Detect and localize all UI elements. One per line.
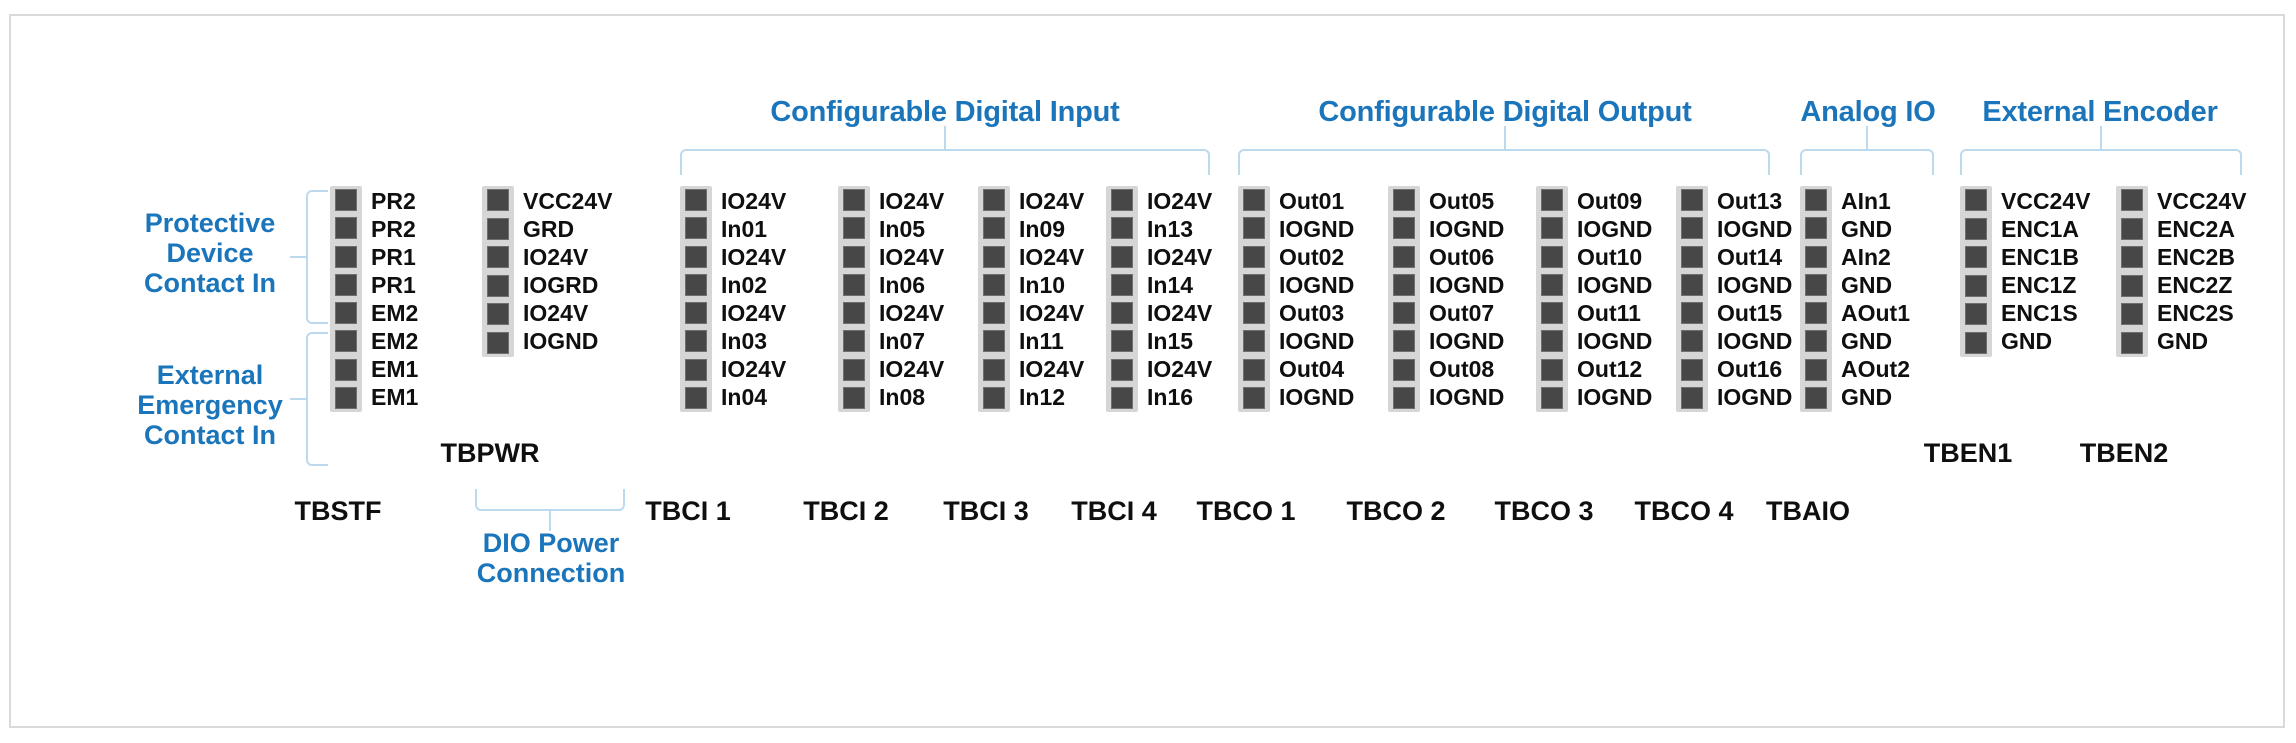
terminal-pin[interactable] bbox=[1965, 275, 1987, 297]
pin-label: In11 bbox=[1019, 329, 1084, 353]
terminal-pin[interactable] bbox=[843, 217, 865, 239]
pin-label: Out04 bbox=[1279, 357, 1354, 381]
pin-label: In15 bbox=[1147, 329, 1212, 353]
terminal-pin[interactable] bbox=[335, 302, 357, 324]
terminal-block-tbci3[interactable] bbox=[978, 186, 1010, 412]
terminal-pin[interactable] bbox=[1243, 302, 1265, 324]
pin-label: Out07 bbox=[1429, 301, 1504, 325]
terminal-pin[interactable] bbox=[1805, 246, 1827, 268]
pin-label-column-tbstf: PR2PR2PR1PR1EM2EM2EM1EM1 bbox=[371, 189, 418, 409]
pin-label: In16 bbox=[1147, 385, 1212, 409]
pin-label: VCC24V bbox=[523, 189, 612, 213]
terminal-pin[interactable] bbox=[487, 218, 509, 240]
terminal-pin[interactable] bbox=[1541, 330, 1563, 352]
pin-label: IO24V bbox=[721, 245, 786, 269]
terminal-pin[interactable] bbox=[983, 217, 1005, 239]
pin-label: IO24V bbox=[1019, 301, 1084, 325]
block-name-tbstf: TBSTF bbox=[258, 496, 418, 527]
terminal-pin[interactable] bbox=[685, 189, 707, 211]
terminal-pin[interactable] bbox=[1965, 332, 1987, 354]
pin-label: GRD bbox=[523, 217, 612, 241]
terminal-pin[interactable] bbox=[1541, 274, 1563, 296]
pin-label: AIn2 bbox=[1841, 245, 1910, 269]
block-name-tbco2: TBCO 2 bbox=[1316, 496, 1476, 527]
pin-label: IOGND bbox=[1279, 217, 1354, 241]
pin-label: Out16 bbox=[1717, 357, 1792, 381]
terminal-pin[interactable] bbox=[335, 359, 357, 381]
pin-label: IO24V bbox=[1147, 301, 1212, 325]
terminal-pin[interactable] bbox=[1681, 387, 1703, 409]
bracket-digital-output bbox=[1238, 149, 1770, 175]
pin-label: IOGND bbox=[1577, 385, 1652, 409]
pin-label: IO24V bbox=[721, 301, 786, 325]
pin-label: In02 bbox=[721, 273, 786, 297]
pin-label: In09 bbox=[1019, 217, 1084, 241]
block-name-tbpwr: TBPWR bbox=[410, 438, 570, 469]
pin-label-column-tbco3: Out09IOGNDOut10IOGNDOut11IOGNDOut12IOGND bbox=[1577, 189, 1652, 409]
pin-label: Out14 bbox=[1717, 245, 1792, 269]
pin-label-column-tbci1: IO24VIn01IO24VIn02IO24VIn03IO24VIn04 bbox=[721, 189, 786, 409]
terminal-pin[interactable] bbox=[487, 189, 509, 211]
pin-label: In05 bbox=[879, 217, 944, 241]
pin-label: IO24V bbox=[1019, 357, 1084, 381]
terminal-pin[interactable] bbox=[1243, 217, 1265, 239]
terminal-pin[interactable] bbox=[1681, 217, 1703, 239]
pin-label: ENC2Z bbox=[2157, 274, 2246, 298]
pin-label: PR2 bbox=[371, 217, 418, 241]
pin-label: In12 bbox=[1019, 385, 1084, 409]
pin-label: IO24V bbox=[879, 245, 944, 269]
pin-label-column-tbaio: AIn1GNDAIn2GNDAOut1GNDAOut2GND bbox=[1841, 189, 1910, 409]
terminal-pin[interactable] bbox=[843, 387, 865, 409]
pin-label: IOGND bbox=[1577, 217, 1652, 241]
pin-label-column-tbco2: Out05IOGNDOut06IOGNDOut07IOGNDOut08IOGND bbox=[1429, 189, 1504, 409]
pin-label: Out10 bbox=[1577, 245, 1652, 269]
terminal-pin[interactable] bbox=[487, 332, 509, 354]
terminal-pin[interactable] bbox=[335, 246, 357, 268]
pin-label: VCC24V bbox=[2157, 189, 2246, 213]
terminal-pin[interactable] bbox=[1541, 387, 1563, 409]
terminal-pin[interactable] bbox=[1805, 330, 1827, 352]
bracket-stem-external-emergency bbox=[290, 398, 306, 400]
pin-label: ENC1B bbox=[2001, 245, 2090, 269]
terminal-pin[interactable] bbox=[1965, 189, 1987, 211]
pin-label-column-tbco4: Out13IOGNDOut14IOGNDOut15IOGNDOut16IOGND bbox=[1717, 189, 1792, 409]
pin-label: IOGND bbox=[1577, 329, 1652, 353]
pin-label: EM2 bbox=[371, 301, 418, 325]
terminal-pin[interactable] bbox=[843, 189, 865, 211]
terminal-pin[interactable] bbox=[1965, 218, 1987, 240]
pin-label-column-tben2: VCC24VENC2AENC2BENC2ZENC2SGND bbox=[2157, 189, 2246, 354]
pin-label: In06 bbox=[879, 273, 944, 297]
pin-label: ENC2S bbox=[2157, 302, 2246, 326]
group-title-configurable-digital-input: Configurable Digital Input bbox=[760, 96, 1130, 129]
terminal-pin[interactable] bbox=[1805, 189, 1827, 211]
bracket-analog-io bbox=[1800, 149, 1934, 175]
terminal-pin[interactable] bbox=[1681, 246, 1703, 268]
terminal-pin[interactable] bbox=[1243, 246, 1265, 268]
terminal-pin[interactable] bbox=[685, 217, 707, 239]
terminal-pin[interactable] bbox=[843, 302, 865, 324]
pin-label: PR2 bbox=[371, 189, 418, 213]
terminal-pin[interactable] bbox=[1965, 246, 1987, 268]
pin-label: IOGND bbox=[1717, 217, 1792, 241]
block-name-tben2: TBEN2 bbox=[2044, 438, 2204, 469]
caption-protective-device-contact-in: Protective Device Contact In bbox=[100, 208, 320, 299]
pin-label: In07 bbox=[879, 329, 944, 353]
block-name-tbci2: TBCI 2 bbox=[766, 496, 926, 527]
terminal-pin[interactable] bbox=[487, 275, 509, 297]
pin-label: In01 bbox=[721, 217, 786, 241]
bracket-dio-power bbox=[475, 489, 625, 511]
terminal-pin[interactable] bbox=[1681, 330, 1703, 352]
terminal-pin[interactable] bbox=[1541, 246, 1563, 268]
terminal-pin[interactable] bbox=[335, 189, 357, 211]
terminal-block-tbco3[interactable] bbox=[1536, 186, 1568, 412]
terminal-pin[interactable] bbox=[983, 274, 1005, 296]
pin-label: Out03 bbox=[1279, 301, 1354, 325]
block-name-tbci1: TBCI 1 bbox=[608, 496, 768, 527]
bracket-protective-device bbox=[306, 190, 328, 324]
caption-external-emergency-contact-in: External Emergency Contact In bbox=[88, 360, 332, 451]
terminal-pin[interactable] bbox=[685, 274, 707, 296]
pin-label: Out02 bbox=[1279, 245, 1354, 269]
pin-label: IOGND bbox=[1717, 329, 1792, 353]
pin-label: IOGND bbox=[1429, 273, 1504, 297]
pin-label: Out11 bbox=[1577, 301, 1652, 325]
pin-label-column-tbpwr: VCC24VGRDIO24VIOGRDIO24VIOGND bbox=[523, 189, 612, 354]
block-name-tben1: TBEN1 bbox=[1888, 438, 2048, 469]
pin-label: GND bbox=[1841, 329, 1910, 353]
pin-label: IO24V bbox=[721, 189, 786, 213]
terminal-pin[interactable] bbox=[1393, 246, 1415, 268]
pin-label: IO24V bbox=[1147, 245, 1212, 269]
terminal-pin[interactable] bbox=[685, 246, 707, 268]
terminal-pin[interactable] bbox=[1111, 359, 1133, 381]
pin-label: GND bbox=[2157, 330, 2246, 354]
pin-label: PR1 bbox=[371, 273, 418, 297]
terminal-pin[interactable] bbox=[1111, 387, 1133, 409]
terminal-pin[interactable] bbox=[1393, 217, 1415, 239]
terminal-pin[interactable] bbox=[1681, 274, 1703, 296]
terminal-pin[interactable] bbox=[983, 189, 1005, 211]
pin-label-column-tbci4: IO24VIn13IO24VIn14IO24VIn15IO24VIn16 bbox=[1147, 189, 1212, 409]
block-name-tbco1: TBCO 1 bbox=[1166, 496, 1326, 527]
pin-label: IO24V bbox=[523, 245, 612, 269]
terminal-pin[interactable] bbox=[335, 274, 357, 296]
pin-label: Out09 bbox=[1577, 189, 1652, 213]
pin-label: GND bbox=[2001, 330, 2090, 354]
terminal-pin[interactable] bbox=[335, 330, 357, 352]
pin-label: IOGND bbox=[1577, 273, 1652, 297]
group-title-configurable-digital-output: Configurable Digital Output bbox=[1310, 96, 1700, 129]
terminal-pin[interactable] bbox=[1681, 189, 1703, 211]
pin-label: VCC24V bbox=[2001, 189, 2090, 213]
terminal-pin[interactable] bbox=[1805, 217, 1827, 239]
terminal-pin[interactable] bbox=[1805, 274, 1827, 296]
bracket-stem-digital-output bbox=[1504, 126, 1506, 150]
pin-label-column-tbci3: IO24VIn09IO24VIn10IO24VIn11IO24VIn12 bbox=[1019, 189, 1084, 409]
terminal-pin[interactable] bbox=[983, 330, 1005, 352]
pin-label: Out13 bbox=[1717, 189, 1792, 213]
group-title-external-encoder: External Encoder bbox=[1955, 96, 2245, 129]
pin-label: EM1 bbox=[371, 357, 418, 381]
pin-label: In03 bbox=[721, 329, 786, 353]
bracket-stem-protective-device bbox=[290, 256, 306, 258]
block-name-tbaio: TBAIO bbox=[1728, 496, 1888, 527]
pin-label: IOGND bbox=[1429, 217, 1504, 241]
pin-label: IOGND bbox=[1279, 385, 1354, 409]
terminal-pin[interactable] bbox=[2121, 275, 2143, 297]
pin-label: IO24V bbox=[879, 189, 944, 213]
pin-label: ENC1S bbox=[2001, 302, 2090, 326]
terminal-pin[interactable] bbox=[1805, 302, 1827, 324]
terminal-pin[interactable] bbox=[1111, 330, 1133, 352]
pin-label: In10 bbox=[1019, 273, 1084, 297]
pin-label: ENC2B bbox=[2157, 245, 2246, 269]
terminal-pin[interactable] bbox=[1243, 359, 1265, 381]
pin-label: ENC1Z bbox=[2001, 274, 2090, 298]
terminal-pin[interactable] bbox=[1243, 274, 1265, 296]
terminal-block-tbaio[interactable] bbox=[1800, 186, 1832, 412]
pin-label: Out01 bbox=[1279, 189, 1354, 213]
pin-label: IOGND bbox=[523, 330, 612, 354]
terminal-pin[interactable] bbox=[2121, 246, 2143, 268]
pin-label: IOGND bbox=[1429, 385, 1504, 409]
terminal-pin[interactable] bbox=[1393, 359, 1415, 381]
terminal-pin[interactable] bbox=[1965, 303, 1987, 325]
group-title-analog-io: Analog IO bbox=[1778, 96, 1958, 129]
terminal-block-tbco2[interactable] bbox=[1388, 186, 1420, 412]
terminal-pin[interactable] bbox=[1111, 246, 1133, 268]
terminal-pin[interactable] bbox=[983, 387, 1005, 409]
pin-label: IO24V bbox=[1019, 189, 1084, 213]
terminal-pin[interactable] bbox=[1111, 217, 1133, 239]
terminal-pin[interactable] bbox=[843, 246, 865, 268]
pin-label: Out15 bbox=[1717, 301, 1792, 325]
pin-label: In13 bbox=[1147, 217, 1212, 241]
bracket-stem-external-encoder bbox=[2100, 126, 2102, 150]
pin-label: AOut2 bbox=[1841, 357, 1910, 381]
terminal-pin[interactable] bbox=[1243, 330, 1265, 352]
terminal-pin[interactable] bbox=[983, 302, 1005, 324]
terminal-pin[interactable] bbox=[2121, 332, 2143, 354]
terminal-block-tbci2[interactable] bbox=[838, 186, 870, 412]
terminal-pin[interactable] bbox=[1111, 189, 1133, 211]
terminal-pin[interactable] bbox=[685, 387, 707, 409]
pin-label: EM2 bbox=[371, 329, 418, 353]
terminal-pin[interactable] bbox=[487, 303, 509, 325]
pin-label-column-tbco1: Out01IOGNDOut02IOGNDOut03IOGNDOut04IOGND bbox=[1279, 189, 1354, 409]
terminal-pin[interactable] bbox=[843, 330, 865, 352]
pin-label: AIn1 bbox=[1841, 189, 1910, 213]
pin-label: In14 bbox=[1147, 273, 1212, 297]
terminal-pin[interactable] bbox=[685, 302, 707, 324]
terminal-block-tben2[interactable] bbox=[2116, 186, 2148, 357]
terminal-pin[interactable] bbox=[335, 217, 357, 239]
pin-label: GND bbox=[1841, 217, 1910, 241]
pin-label: IO24V bbox=[721, 357, 786, 381]
pin-label: IO24V bbox=[1147, 189, 1212, 213]
pin-label: IO24V bbox=[523, 302, 612, 326]
pin-label: IOGND bbox=[1717, 385, 1792, 409]
pin-label: ENC2A bbox=[2157, 217, 2246, 241]
terminal-block-tbci4[interactable] bbox=[1106, 186, 1138, 412]
pin-label-column-tben1: VCC24VENC1AENC1BENC1ZENC1SGND bbox=[2001, 189, 2090, 354]
terminal-pin[interactable] bbox=[1111, 274, 1133, 296]
terminal-block-tbco4[interactable] bbox=[1676, 186, 1708, 412]
pin-label: In04 bbox=[721, 385, 786, 409]
terminal-pin[interactable] bbox=[1393, 387, 1415, 409]
block-name-tbco3: TBCO 3 bbox=[1464, 496, 1624, 527]
terminal-pin[interactable] bbox=[1541, 217, 1563, 239]
terminal-pin[interactable] bbox=[1393, 274, 1415, 296]
terminal-pin[interactable] bbox=[1681, 302, 1703, 324]
terminal-pin[interactable] bbox=[335, 387, 357, 409]
pin-label: IOGRD bbox=[523, 274, 612, 298]
pin-label: IO24V bbox=[1147, 357, 1212, 381]
pin-label: IO24V bbox=[1019, 245, 1084, 269]
terminal-pin[interactable] bbox=[1243, 189, 1265, 211]
pin-label: ENC1A bbox=[2001, 217, 2090, 241]
pin-label: IO24V bbox=[879, 357, 944, 381]
bracket-stem-analog-io bbox=[1866, 126, 1868, 150]
terminal-pin[interactable] bbox=[1805, 359, 1827, 381]
terminal-pin[interactable] bbox=[1541, 359, 1563, 381]
terminal-pin[interactable] bbox=[1393, 330, 1415, 352]
pin-label: IOGND bbox=[1279, 273, 1354, 297]
pin-label: Out12 bbox=[1577, 357, 1652, 381]
pin-label: Out06 bbox=[1429, 245, 1504, 269]
diagram-stage: Configurable Digital Input Configurable … bbox=[0, 0, 2296, 743]
terminal-pin[interactable] bbox=[1393, 189, 1415, 211]
terminal-pin[interactable] bbox=[2121, 189, 2143, 211]
terminal-block-tbco1[interactable] bbox=[1238, 186, 1270, 412]
pin-label: Out08 bbox=[1429, 357, 1504, 381]
terminal-block-tben1[interactable] bbox=[1960, 186, 1992, 357]
terminal-pin[interactable] bbox=[1243, 387, 1265, 409]
terminal-pin[interactable] bbox=[685, 359, 707, 381]
terminal-pin[interactable] bbox=[1393, 302, 1415, 324]
pin-label: IOGND bbox=[1717, 273, 1792, 297]
terminal-pin[interactable] bbox=[1681, 359, 1703, 381]
terminal-pin[interactable] bbox=[983, 246, 1005, 268]
pin-label: Out05 bbox=[1429, 189, 1504, 213]
caption-dio-power-connection: DIO Power Connection bbox=[468, 528, 634, 588]
pin-label: GND bbox=[1841, 385, 1910, 409]
pin-label: EM1 bbox=[371, 385, 418, 409]
terminal-pin[interactable] bbox=[2121, 218, 2143, 240]
terminal-pin[interactable] bbox=[843, 359, 865, 381]
terminal-pin[interactable] bbox=[1541, 302, 1563, 324]
pin-label: IOGND bbox=[1279, 329, 1354, 353]
terminal-pin[interactable] bbox=[685, 330, 707, 352]
terminal-pin[interactable] bbox=[2121, 303, 2143, 325]
terminal-pin[interactable] bbox=[1805, 387, 1827, 409]
terminal-block-tbstf[interactable] bbox=[330, 186, 362, 412]
terminal-block-tbci1[interactable] bbox=[680, 186, 712, 412]
bracket-external-emergency bbox=[306, 332, 328, 466]
terminal-pin[interactable] bbox=[843, 274, 865, 296]
terminal-pin[interactable] bbox=[1541, 189, 1563, 211]
terminal-block-tbpwr[interactable] bbox=[482, 186, 514, 357]
pin-label: In08 bbox=[879, 385, 944, 409]
bracket-digital-input bbox=[680, 149, 1210, 175]
pin-label: IO24V bbox=[879, 301, 944, 325]
pin-label: PR1 bbox=[371, 245, 418, 269]
pin-label-column-tbci2: IO24VIn05IO24VIn06IO24VIn07IO24VIn08 bbox=[879, 189, 944, 409]
pin-label: AOut1 bbox=[1841, 301, 1910, 325]
terminal-pin[interactable] bbox=[1111, 302, 1133, 324]
pin-label: GND bbox=[1841, 273, 1910, 297]
terminal-pin[interactable] bbox=[983, 359, 1005, 381]
pin-label: IOGND bbox=[1429, 329, 1504, 353]
terminal-pin[interactable] bbox=[487, 246, 509, 268]
bracket-stem-digital-input bbox=[944, 126, 946, 150]
bracket-external-encoder bbox=[1960, 149, 2242, 175]
